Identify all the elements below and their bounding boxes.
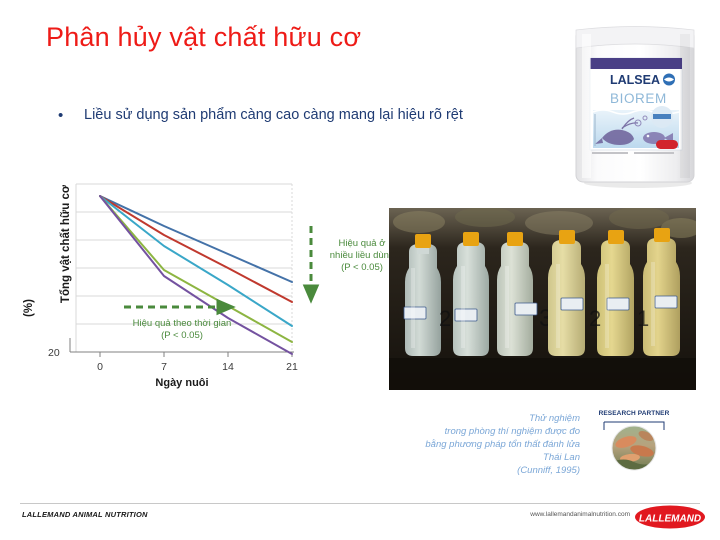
- bottle-6-cap: [654, 228, 670, 242]
- citation-line-4: Thái Lan: [380, 451, 580, 464]
- bag-brand-text: LALSEA: [610, 73, 660, 87]
- lallemand-logo: LALLEMAND: [634, 505, 706, 529]
- bottle-4-cap: [559, 230, 575, 244]
- svg-text:2: 2: [589, 306, 601, 331]
- citation-line-5: (Cunniff, 1995): [380, 464, 580, 477]
- chart-x-tick-0: 0: [85, 361, 115, 373]
- bag-label-top-band: [590, 58, 682, 69]
- bottle-4-label: [561, 298, 583, 310]
- chart-x-tick-7: 7: [149, 361, 179, 373]
- footer-website-url: www.lallemandanimalnutrition.com: [530, 511, 630, 518]
- bottle-3-label: [515, 303, 537, 315]
- product-package-image: LALSEA BIOREM: [568, 22, 708, 188]
- organic-matter-line-chart: Tổng vật chất hữu cơ (%) 20: [22, 178, 342, 393]
- citation-block: Thử nghiệm trong phòng thí nghiệm được đ…: [380, 412, 580, 477]
- bottle-5-label: [607, 298, 629, 310]
- chart-line-dose-1: [100, 196, 292, 282]
- citation-line-3: bằng phương pháp tổn thất đánh lửa: [380, 438, 580, 451]
- footer-company-name: LALLEMAND ANIMAL NUTRITION: [22, 510, 148, 519]
- bag-lallemand-logo: [656, 140, 678, 149]
- bottle-1: [404, 234, 441, 356]
- bottles-trial-photo: 2 3 2 1: [389, 208, 696, 390]
- annotation-time-line-2: (P < 0.05): [92, 330, 272, 342]
- bullet-marker-icon: •: [58, 106, 84, 125]
- bottle-3-cap: [507, 232, 523, 246]
- bottle-6-label: [655, 296, 677, 308]
- footer-divider: [20, 503, 700, 504]
- bottle-2-cap: [463, 232, 479, 246]
- bottle-4: [548, 230, 585, 356]
- svg-text:1: 1: [637, 306, 649, 331]
- chart-annotation-time-effect: Hiệu quả theo thời gian (P < 0.05): [92, 318, 272, 342]
- chart-x-axis-label: Ngày nuôi: [122, 377, 242, 389]
- bottle-5-cap: [608, 230, 624, 244]
- research-partner-label: RESEARCH PARTNER: [590, 410, 678, 417]
- citation-line-1: Thử nghiệm: [380, 412, 580, 425]
- bottle-1-cap: [415, 234, 431, 248]
- bottle-2-label: [455, 309, 477, 321]
- annotation-time-line-1: Hiệu quả theo thời gian: [92, 318, 272, 330]
- research-partner-frame: [590, 418, 678, 478]
- bullet-item-text: Liều sử dụng sản phẩm càng cao càng mang…: [84, 106, 463, 125]
- citation-line-2: trong phòng thí nghiệm được đo: [380, 425, 580, 438]
- research-partner-badge: RESEARCH PARTNER: [590, 410, 678, 478]
- photo-foreground-ground: [389, 358, 696, 390]
- svg-text:2: 2: [439, 306, 451, 331]
- page-title: Phân hủy vật chất hữu cơ: [46, 22, 361, 53]
- bullet-list: • Liều sử dụng sản phẩm càng cao càng ma…: [58, 106, 463, 125]
- lallemand-logo-text: LALLEMAND: [639, 514, 701, 525]
- bag-product-name-text: BIOREM: [610, 91, 667, 106]
- chart-x-tick-21: 21: [277, 361, 307, 373]
- chart-x-tick-14: 14: [213, 361, 243, 373]
